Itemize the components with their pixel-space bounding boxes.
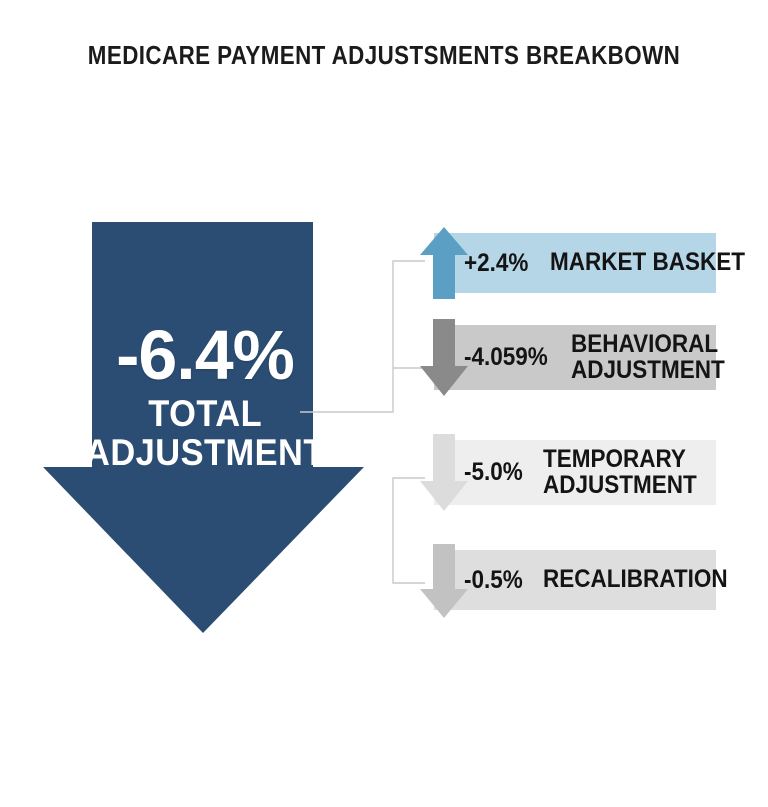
component-name: TEMPORARY ADJUSTMENT [543, 447, 697, 498]
arrow-down-glyph [418, 542, 470, 620]
arrow-down-icon [418, 542, 470, 602]
component-row-recalibration[interactable]: -0.5% RECALIBRATION [418, 550, 716, 610]
component-name: MARKET BASKET [550, 250, 745, 276]
component-text-group: -4.059% BEHAVIORAL ADJUSTMENT [464, 325, 742, 390]
component-name-line-1: MARKET BASKET [550, 250, 745, 276]
component-name-line-2: ADJUSTMENT [571, 358, 725, 384]
arrow-up-glyph [418, 225, 470, 301]
component-name: RECALIBRATION [543, 567, 728, 593]
component-text-group: -0.5% RECALIBRATION [464, 550, 748, 610]
component-name-line-2: ADJUSTMENT [543, 473, 697, 499]
component-text-group: +2.4% MARKET BASKET [464, 233, 766, 293]
component-name-line-1: TEMPORARY [543, 447, 697, 473]
component-value: +2.4% [464, 249, 528, 278]
component-name: BEHAVIORAL ADJUSTMENT [571, 332, 725, 383]
infographic-canvas: MEDICARE PAYMENT ADJUSTSMENTS BREAKBOWN … [0, 0, 768, 807]
component-value: -0.5% [464, 566, 523, 595]
arrow-down-glyph [418, 317, 470, 398]
arrow-down-glyph [418, 432, 470, 513]
arrow-up-icon [418, 225, 470, 285]
component-name-line-1: RECALIBRATION [543, 567, 728, 593]
component-value: -4.059% [464, 343, 548, 372]
component-row-behavioral-adjustment[interactable]: -4.059% BEHAVIORAL ADJUSTMENT [418, 325, 716, 390]
component-value: -5.0% [464, 458, 523, 487]
arrow-down-icon [418, 317, 470, 382]
component-row-market-basket[interactable]: +2.4% MARKET BASKET [418, 233, 716, 293]
page-title: MEDICARE PAYMENT ADJUSTSMENTS BREAKBOWN [54, 40, 714, 71]
component-row-temporary-adjustment[interactable]: -5.0% TEMPORARY ADJUSTMENT [418, 440, 716, 505]
component-text-group: -5.0% TEMPORARY ADJUSTMENT [464, 440, 714, 505]
component-name-line-1: BEHAVIORAL [571, 332, 725, 358]
arrow-down-icon [418, 432, 470, 497]
